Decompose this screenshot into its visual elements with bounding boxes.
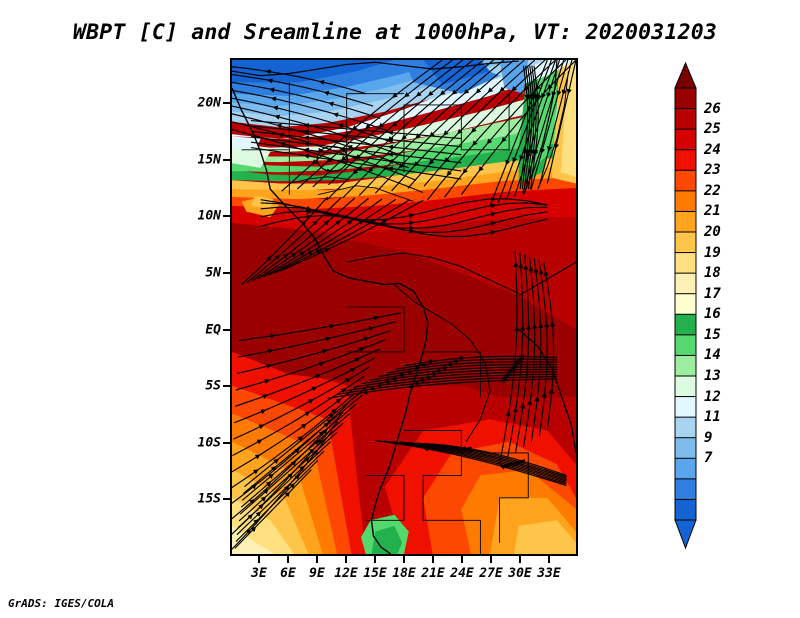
- x-tick: [316, 556, 318, 563]
- y-tick: [223, 498, 230, 500]
- x-tick-label: 33E: [537, 566, 560, 581]
- map-plot-area: [230, 58, 578, 556]
- colorbar-swatch: [675, 314, 696, 335]
- y-tick: [223, 215, 230, 217]
- colorbar-label: 15: [704, 327, 721, 343]
- colorbar: 2625242322212019181716151413121197: [668, 60, 788, 555]
- x-tick-label: 18E: [392, 566, 415, 581]
- colorbar-label: 12: [704, 389, 721, 405]
- x-tick-label: 3E: [251, 566, 267, 581]
- x-tick: [374, 556, 376, 563]
- colorbar-label: 22: [704, 183, 721, 199]
- colorbar-swatch: [675, 397, 696, 418]
- colorbar-label: 23: [704, 162, 721, 178]
- wbpt-field: [232, 60, 576, 554]
- x-tick: [258, 556, 260, 563]
- x-tick-label: 30E: [508, 566, 531, 581]
- chart-page: WBPT [C] and Sreamline at 1000hPa, VT: 2…: [0, 0, 800, 618]
- x-tick: [519, 556, 521, 563]
- x-tick-label: 27E: [479, 566, 502, 581]
- y-tick-label: 10N: [0, 209, 221, 224]
- colorbar-label: 18: [704, 265, 721, 281]
- y-tick: [223, 442, 230, 444]
- y-tick-label: 5S: [0, 379, 221, 394]
- colorbar-swatch: [675, 417, 696, 438]
- y-tick-label: 20N: [0, 96, 221, 111]
- colorbar-swatch: [675, 335, 696, 356]
- colorbar-swatch: [675, 88, 696, 109]
- x-tick: [403, 556, 405, 563]
- x-tick: [490, 556, 492, 563]
- x-tick-label: 24E: [450, 566, 473, 581]
- colorbar-swatch: [675, 458, 696, 479]
- colorbar-swatch: [675, 438, 696, 459]
- colorbar-swatch: [675, 294, 696, 315]
- colorbar-label: 7: [704, 450, 712, 466]
- colorbar-swatch: [675, 355, 696, 376]
- x-tick: [287, 556, 289, 563]
- colorbar-top-arrow: [675, 63, 696, 88]
- x-tick-label: 12E: [334, 566, 357, 581]
- colorbar-swatch: [675, 499, 696, 520]
- colorbar-swatch: [675, 479, 696, 500]
- colorbar-bottom-arrow: [675, 520, 696, 548]
- colorbar-swatch: [675, 232, 696, 253]
- colorbar-label: 11: [704, 409, 721, 425]
- y-tick-label: 15N: [0, 152, 221, 167]
- y-tick-label: 5N: [0, 266, 221, 281]
- colorbar-label: 14: [704, 347, 721, 363]
- colorbar-label: 17: [704, 286, 721, 302]
- y-tick: [223, 159, 230, 161]
- x-tick: [461, 556, 463, 563]
- colorbar-label: 19: [704, 245, 721, 261]
- colorbar-swatch: [675, 253, 696, 274]
- colorbar-swatch: [675, 376, 696, 397]
- colorbar-swatch: [675, 170, 696, 191]
- credit-text: GrADS: IGES/COLA: [8, 597, 114, 610]
- y-tick-label: 10S: [0, 435, 221, 450]
- y-tick-label: 15S: [0, 492, 221, 507]
- colorbar-label: 24: [704, 142, 721, 158]
- y-tick: [223, 102, 230, 104]
- x-tick-label: 21E: [421, 566, 444, 581]
- colorbar-swatch: [675, 150, 696, 171]
- colorbar-label: 9: [704, 430, 712, 446]
- y-tick-label: EQ: [0, 322, 221, 337]
- colorbar-label: 26: [704, 101, 721, 117]
- colorbar-label: 21: [704, 203, 721, 219]
- colorbar-swatch: [675, 191, 696, 212]
- colorbar-label: 20: [704, 224, 721, 240]
- colorbar-swatch: [675, 129, 696, 150]
- x-tick: [345, 556, 347, 563]
- y-tick: [223, 272, 230, 274]
- x-tick: [548, 556, 550, 563]
- y-tick: [223, 385, 230, 387]
- colorbar-swatch: [675, 109, 696, 130]
- x-tick-label: 15E: [363, 566, 386, 581]
- colorbar-swatch: [675, 211, 696, 232]
- colorbar-swatches: [668, 60, 708, 555]
- colorbar-label: 16: [704, 306, 721, 322]
- colorbar-swatch: [675, 273, 696, 294]
- chart-title: WBPT [C] and Sreamline at 1000hPa, VT: 2…: [0, 20, 790, 45]
- colorbar-label: 13: [704, 368, 721, 384]
- x-tick-label: 6E: [280, 566, 296, 581]
- y-tick: [223, 329, 230, 331]
- x-tick: [432, 556, 434, 563]
- colorbar-label: 25: [704, 121, 721, 137]
- x-tick-label: 9E: [309, 566, 325, 581]
